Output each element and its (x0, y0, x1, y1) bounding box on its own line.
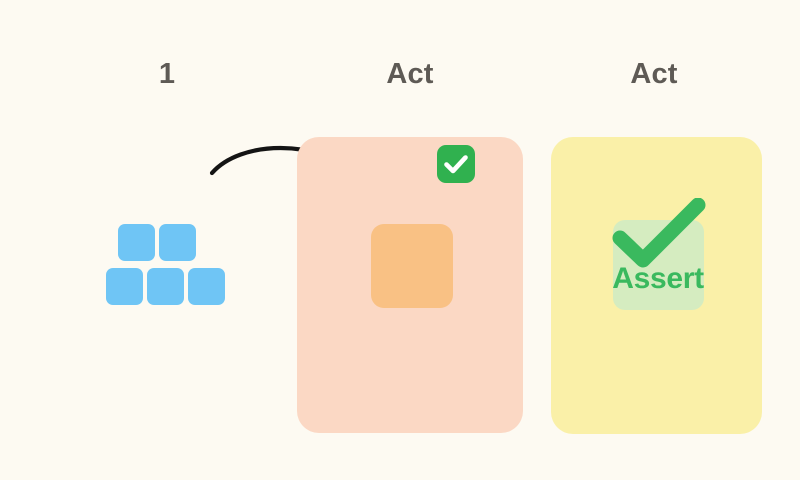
column-label-act-2: Act (604, 58, 704, 91)
blue-block (188, 268, 225, 305)
blue-blocks-group (106, 224, 226, 306)
blue-block (147, 268, 184, 305)
column-label-act-1: Act (360, 58, 460, 91)
assert-label: Assert (598, 262, 718, 296)
column-label-1: 1 (117, 58, 217, 91)
diagram-canvas: 1 Act Act Assert (0, 0, 800, 480)
act-inner-square (371, 224, 453, 308)
blue-block (106, 268, 143, 305)
blue-block (159, 224, 196, 261)
check-badge-icon (437, 145, 475, 183)
blue-block (118, 224, 155, 261)
